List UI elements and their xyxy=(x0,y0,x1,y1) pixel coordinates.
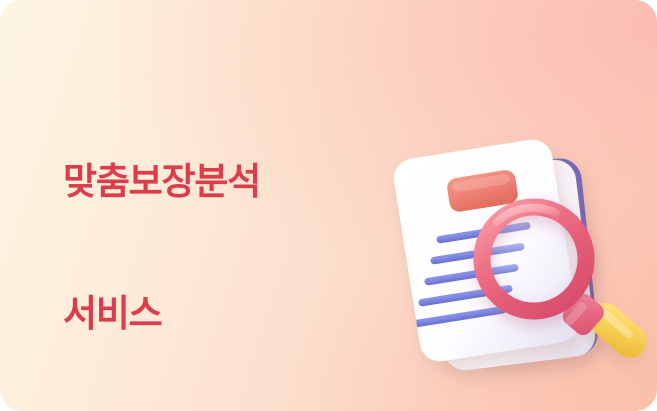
headline-line-2: 서비스 xyxy=(63,292,292,336)
promo-banner: 맞춤보장분석 서비스 고객님의 부족한 보장을 꼼꼼하게 체크하여 알기 쉽게 … xyxy=(0,0,657,411)
document-magnifier-illustration xyxy=(392,136,657,394)
headline-line-1: 맞춤보장분석 xyxy=(63,160,292,204)
copy-block: 맞춤보장분석 서비스 고객님의 부족한 보장을 꼼꼼하게 체크하여 알기 쉽게 … xyxy=(63,72,292,411)
page-title: 맞춤보장분석 서비스 xyxy=(63,72,292,411)
